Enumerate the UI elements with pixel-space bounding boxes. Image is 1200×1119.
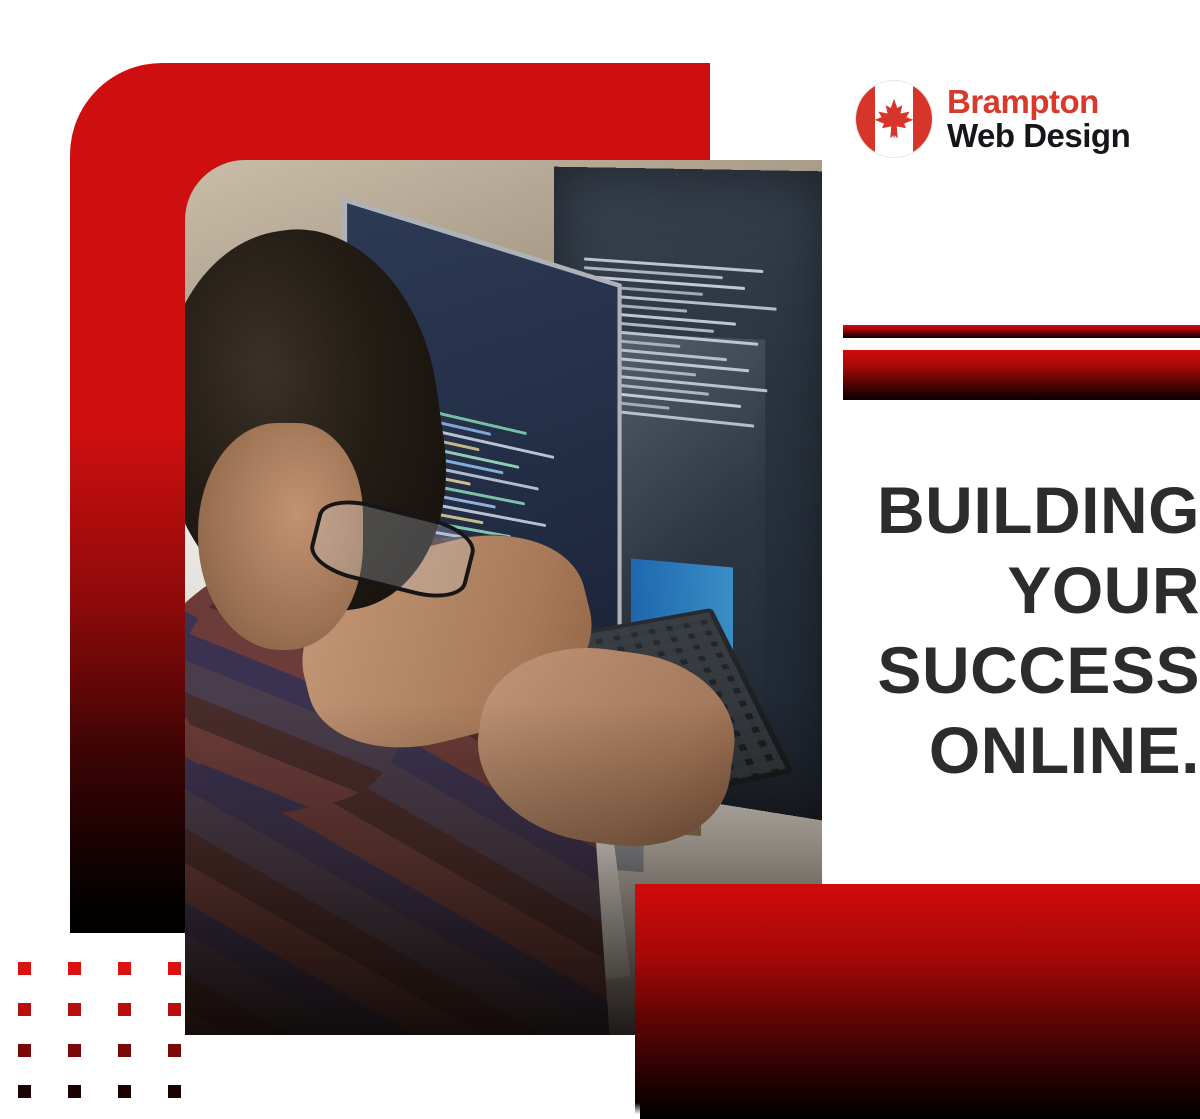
headline-line-4: ONLINE.	[780, 710, 1200, 790]
page-title: BUILDING YOUR SUCCESS ONLINE.	[780, 470, 1200, 790]
maple-leaf-icon	[871, 96, 917, 142]
dot	[68, 1044, 81, 1057]
canadian-flag-circle-icon	[855, 80, 933, 158]
dot	[168, 1003, 181, 1016]
dot	[118, 1085, 131, 1098]
dot	[18, 1044, 31, 1057]
dot	[18, 962, 31, 975]
dot	[68, 1085, 81, 1098]
dot	[118, 1044, 131, 1057]
dot	[18, 1085, 31, 1098]
dot-grid-decoration	[18, 962, 218, 1119]
headline-line-1: BUILDING	[780, 470, 1200, 550]
dot	[68, 1003, 81, 1016]
dot	[168, 1085, 181, 1098]
promo-poster: Brampton Web Design BUILDING YOUR SUCCES…	[0, 0, 1200, 1119]
dot	[118, 1003, 131, 1016]
dot	[68, 962, 81, 975]
dot	[118, 962, 131, 975]
brand-wordmark: Brampton Web Design	[947, 85, 1130, 152]
red-accent-block-bottom-right	[635, 884, 1200, 1119]
accent-bar-thin	[843, 325, 1200, 338]
accent-bar-thick	[843, 350, 1200, 400]
bottom-white-fade	[0, 1103, 640, 1119]
brand-name-secondary: Web Design	[947, 119, 1130, 153]
headline-line-3: SUCCESS	[780, 630, 1200, 710]
headline-line-2: YOUR	[780, 550, 1200, 630]
dot	[168, 962, 181, 975]
dot	[18, 1003, 31, 1016]
brand-logo[interactable]: Brampton Web Design	[855, 80, 1130, 158]
dot	[168, 1044, 181, 1057]
brand-name-primary: Brampton	[947, 85, 1130, 119]
